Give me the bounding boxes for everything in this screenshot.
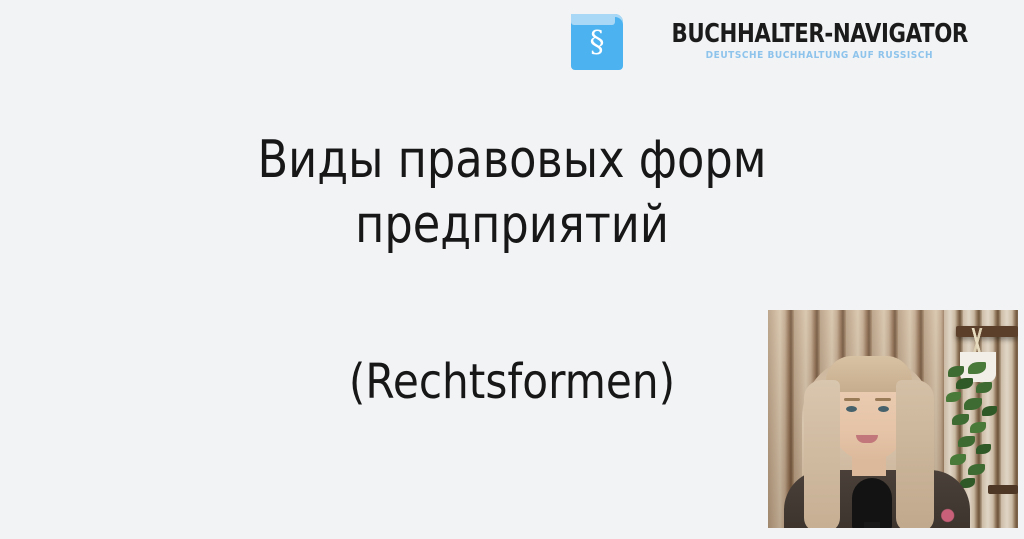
title-container: Виды правовых форм предприятий [0, 128, 1024, 258]
brand-logo: § BUCHHALTER-NAVIGATOR DEUTSCHE BUCHHALT… [567, 8, 1000, 72]
svg-text:§: § [589, 25, 604, 60]
logo-wordmark-group: BUCHHALTER-NAVIGATOR DEUTSCHE BUCHHALTUN… [639, 19, 1000, 61]
presenter-eye-right [878, 406, 889, 412]
brand-name: BUCHHALTER-NAVIGATOR [671, 21, 967, 47]
presenter-webcam[interactable] [768, 310, 1018, 528]
microphone [852, 478, 892, 528]
hanging-plant [942, 362, 1004, 492]
presenter-eye-left [846, 406, 857, 412]
presenter-hair-right [896, 380, 934, 528]
presenter-hair-left [804, 380, 840, 528]
book-with-section-sign-icon: § [567, 8, 627, 72]
presentation-slide: § BUCHHALTER-NAVIGATOR DEUTSCHE BUCHHALT… [0, 0, 1024, 539]
brand-tagline: DEUTSCHE BUCHHALTUNG AUF RUSSISCH [706, 51, 933, 61]
slide-subtitle: (Rechtsformen) [158, 355, 866, 410]
presenter-eyebrow-left [844, 398, 860, 401]
presenter-eyebrow-right [875, 398, 891, 401]
microphone-stand [864, 522, 880, 528]
slide-title: Виды правовых форм предприятий [166, 128, 857, 258]
